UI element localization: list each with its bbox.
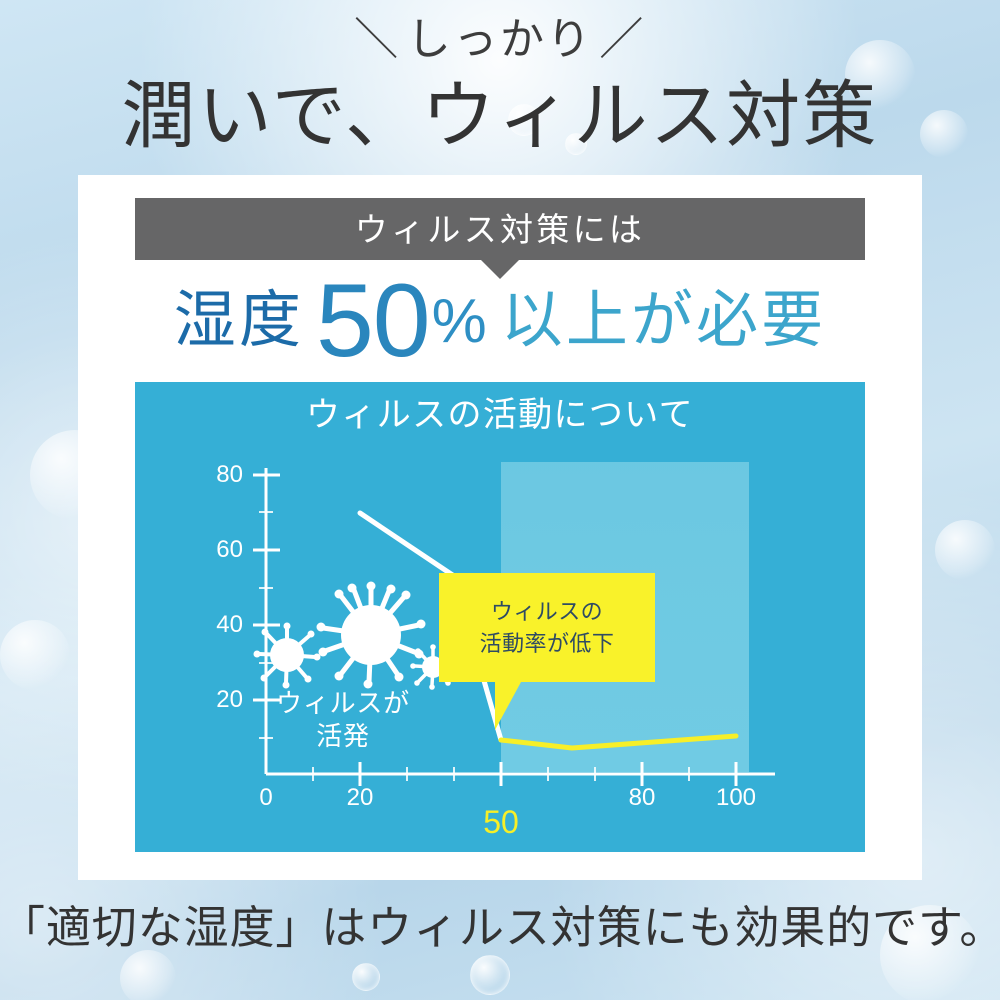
water-droplet-icon: [352, 963, 380, 991]
y-tick-label-80: 80: [193, 463, 243, 487]
y-tick-label-40: 40: [193, 613, 243, 637]
humidity-statement: 湿度 50 % 以上が必要: [78, 277, 922, 367]
virus-active-label: ウィルスが 活発: [253, 687, 433, 752]
humidity-number: 50: [304, 277, 432, 366]
virus-measure-banner: ウィルス対策には: [135, 198, 865, 260]
virus-active-line2: 活発: [253, 720, 433, 753]
page-title: 潤いで、ウィルス対策: [0, 78, 1000, 153]
x-tick-label-50: 50: [471, 806, 531, 838]
slash-left: ＼: [348, 18, 407, 62]
slash-right: ／: [593, 18, 652, 62]
humidity-word: 湿度: [174, 290, 304, 354]
x-tick-label-20: 20: [330, 786, 390, 810]
kicker-text: しっかり: [407, 15, 594, 64]
water-droplet-icon: [470, 955, 510, 995]
bokeh-decoration: [120, 950, 176, 1000]
virus-icon-large: [317, 582, 426, 689]
bokeh-decoration: [935, 520, 995, 580]
x-tick-label-80: 80: [612, 786, 672, 810]
virus-active-line1: ウィルスが: [253, 687, 433, 720]
activity-drop-callout: ウィルスの 活動率が低下: [439, 573, 655, 682]
y-tick-label-60: 60: [193, 538, 243, 562]
kicker-line: ＼しっかり／: [0, 18, 1000, 62]
x-tick-label-100: 100: [706, 786, 766, 810]
humidity-suffix: 以上が必要: [501, 290, 827, 354]
poster-root: ＼しっかり／ 潤いで、ウィルス対策 ウィルス対策には 湿度 50 % 以上が必要…: [0, 0, 1000, 1000]
callout-text: ウィルスの 活動率が低下: [439, 573, 655, 682]
callout-line2: 活動率が低下: [480, 628, 615, 660]
x-tick-label-0: 0: [236, 786, 296, 810]
virus-icon-medium: [254, 623, 321, 689]
callout-tail-icon: [495, 682, 521, 730]
bokeh-decoration: [0, 620, 70, 690]
y-tick-label-20: 20: [193, 688, 243, 712]
banner-label: ウィルス対策には: [135, 198, 865, 260]
footer-note: 「適切な湿度」はウィルス対策にも効果的です。: [0, 905, 1000, 950]
callout-line1: ウィルスの: [491, 596, 603, 628]
percent-sign: %: [432, 291, 501, 353]
